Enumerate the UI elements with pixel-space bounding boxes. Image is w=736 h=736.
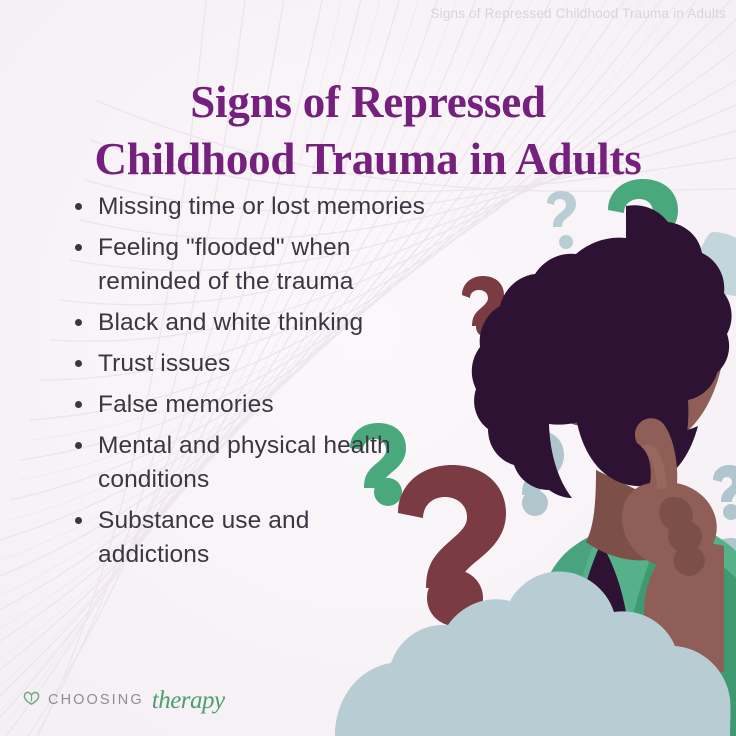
q-blue-right-upper — [713, 465, 736, 520]
leaf-heart-icon — [22, 688, 41, 712]
blue-wedge-right — [688, 232, 736, 296]
q-blue-medium-mid — [509, 430, 564, 516]
title-line-1: Signs of Repressed — [0, 74, 736, 131]
figure-neck — [586, 470, 660, 560]
list-item: False memories — [66, 388, 426, 422]
q-maroon-small-left — [462, 276, 504, 337]
figure-head — [472, 205, 732, 498]
logo-word-therapy: therapy — [152, 687, 225, 715]
list-item: Missing time or lost memories — [66, 190, 426, 224]
list-item: Trust issues — [66, 347, 426, 381]
list-item: Substance use and addictions — [66, 504, 426, 572]
q-blue-right-lower — [712, 538, 736, 599]
page-title: Signs of Repressed Childhood Trauma in A… — [0, 74, 736, 187]
choosing-therapy-logo[interactable]: CHOOSING therapy — [22, 686, 225, 714]
list-item: Black and white thinking — [66, 306, 426, 340]
logo-word-choosing: CHOOSING — [48, 692, 144, 708]
q-blue-small-top — [547, 191, 576, 249]
q-green-small-mid — [492, 377, 526, 428]
figure-hand — [622, 418, 724, 672]
list-item: Feeling "flooded" when reminded of the t… — [66, 231, 426, 299]
figure-body — [533, 521, 736, 736]
list-item: Mental and physical health conditions — [66, 429, 426, 497]
title-line-2: Childhood Trauma in Adults — [0, 131, 736, 188]
poster-canvas: Signs of Repressed Childhood Trauma in A… — [0, 0, 736, 736]
watermark-title: Signs of Repressed Childhood Trauma in A… — [430, 6, 726, 21]
q-green-large-top — [608, 179, 678, 309]
cloud-shape — [335, 571, 730, 736]
signs-list: Missing time or lost memories Feeling "f… — [66, 190, 426, 579]
